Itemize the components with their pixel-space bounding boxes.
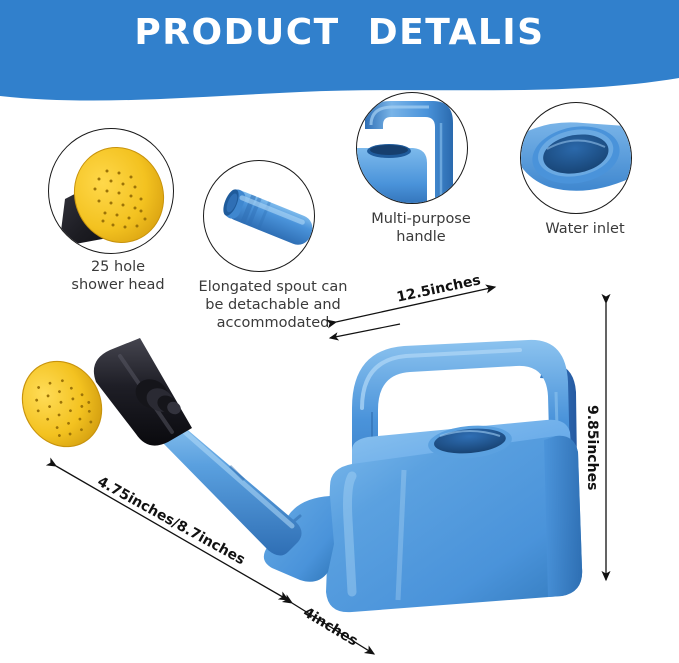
callout-spout: Elongated spout can be detachable and ac… (203, 160, 343, 300)
blue-tube-end-icon (204, 161, 314, 271)
dimension-label-height-right: 9.85inches (584, 405, 600, 490)
callout-shower-head: 25 hole shower head (48, 128, 188, 268)
page-title: PRODUCT DETALIS (0, 12, 679, 53)
blue-oval-opening-icon (521, 103, 631, 213)
yellow-perforated-disc-icon (49, 129, 173, 253)
header-banner: PRODUCT DETALIS (0, 0, 679, 112)
callout-label-water-inlet: Water inlet (510, 220, 660, 238)
product-details-page: PRODUCT DETALIS (0, 0, 679, 663)
callout-label-handle: Multi-purpose handle (341, 210, 501, 246)
callout-water-inlet: Water inlet (520, 102, 650, 252)
callout-circle-spout (203, 160, 315, 272)
callout-circle-shower-head (48, 128, 174, 254)
callout-circle-handle (356, 92, 468, 204)
callout-handle: Multi-purpose handle (356, 92, 486, 242)
blue-handle-corner-icon (357, 93, 467, 203)
callout-circle-water-inlet (520, 102, 632, 214)
